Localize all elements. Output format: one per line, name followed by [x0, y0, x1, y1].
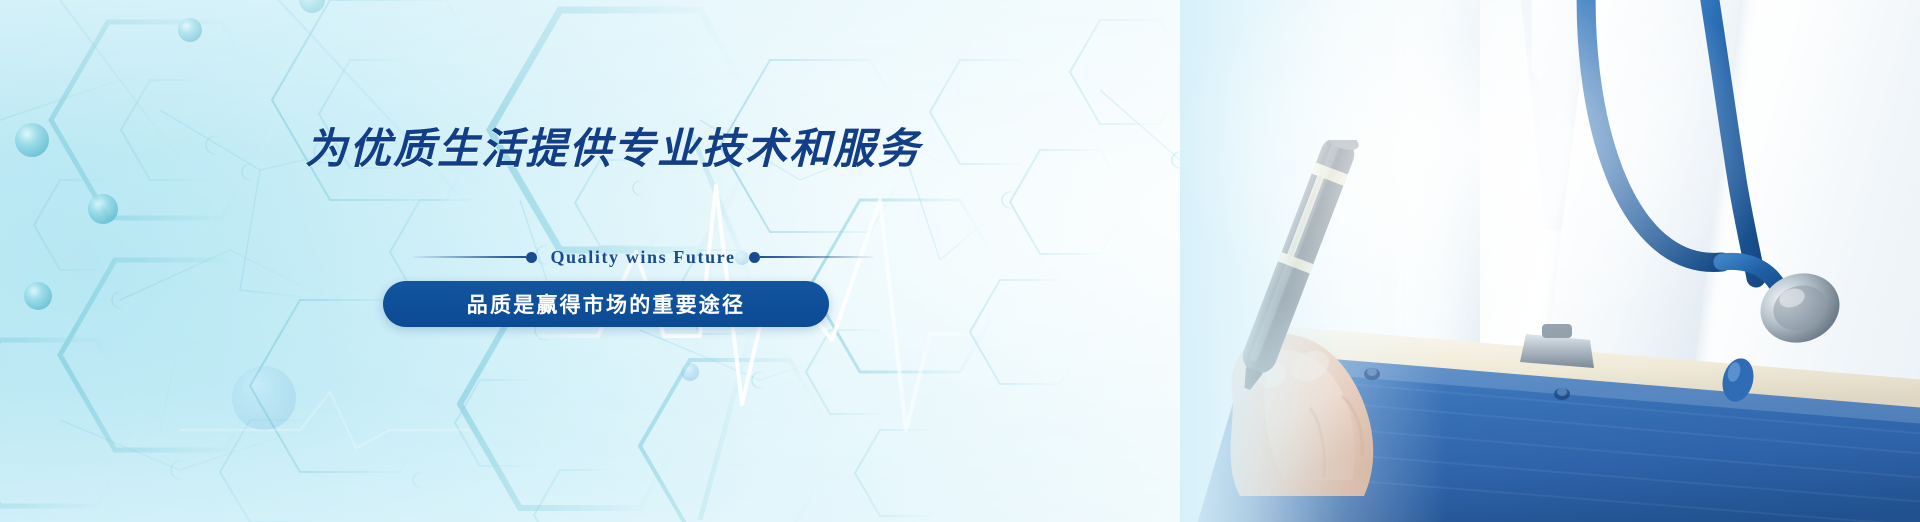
subtitle-text: Quality wins Future [537, 247, 748, 268]
slogan-pill-label: 品质是赢得市场的重要途径 [467, 289, 745, 319]
hero-banner: 为优质生活提供专业技术和服务 Quality wins Future 品质是赢得… [0, 0, 1920, 522]
subtitle-divider-row: Quality wins Future [413, 246, 873, 268]
divider-line-right [760, 256, 873, 258]
bullet-dot-left-icon [526, 252, 537, 263]
slogan-pill-button[interactable]: 品质是赢得市场的重要途径 [383, 281, 829, 327]
divider-line-left [413, 256, 526, 258]
page-title: 为优质生活提供专业技术和服务 [305, 128, 921, 170]
doctor-photo [1180, 0, 1920, 522]
bullet-dot-right-icon [749, 252, 760, 263]
pen [1180, 140, 1410, 400]
banner-content: 为优质生活提供专业技术和服务 Quality wins Future 品质是赢得… [305, 0, 945, 522]
